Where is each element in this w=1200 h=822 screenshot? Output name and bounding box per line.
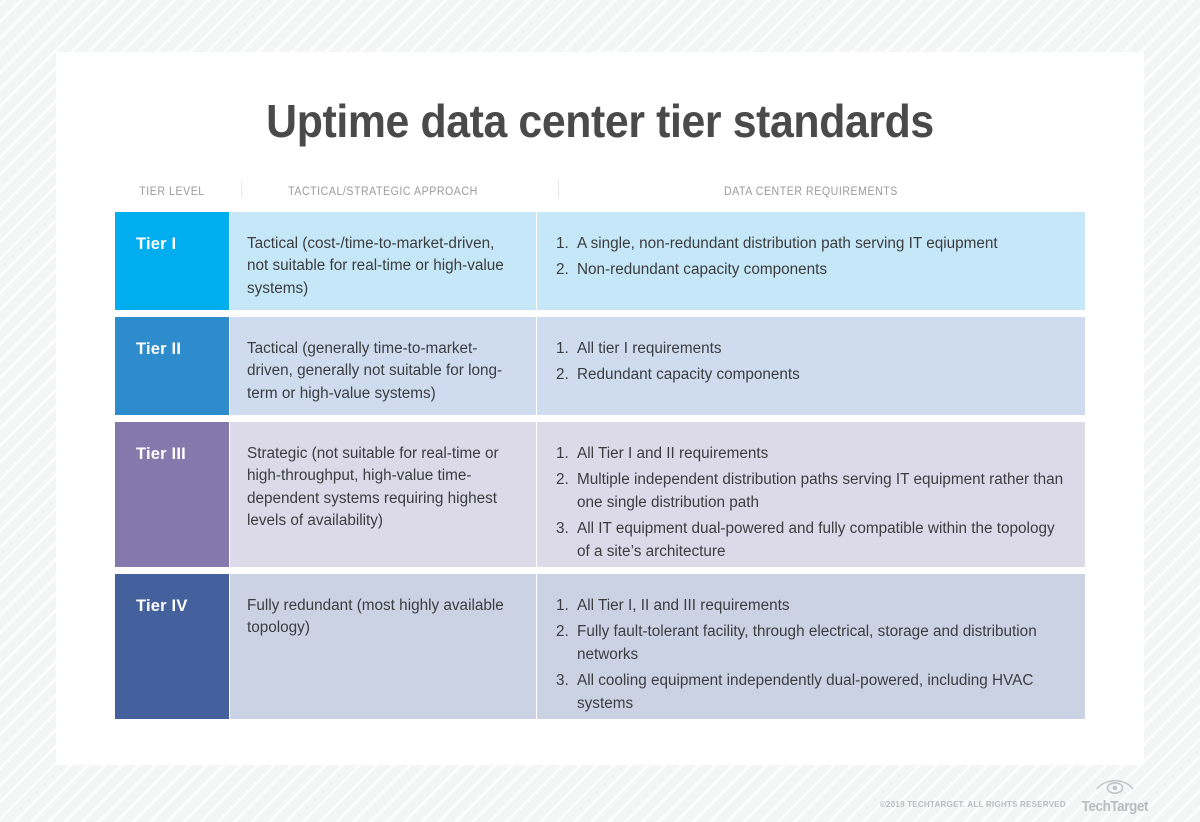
row-divider xyxy=(229,317,230,415)
table-row: Tier IV Fully redundant (most highly ava… xyxy=(115,574,1085,719)
list-item: Fully fault-tolerant facility, through e… xyxy=(556,621,1071,666)
page-title: Uptime data center tier standards xyxy=(94,94,1106,148)
tier-label-cell: Tier I xyxy=(115,212,229,310)
column-header-approach: TACTICAL/STRATEGIC APPROACH xyxy=(241,180,523,198)
list-item: Redundant capacity components xyxy=(556,364,1071,386)
row-divider xyxy=(536,574,537,719)
approach-cell: Tactical (generally time-to-market-drive… xyxy=(229,317,536,415)
approach-cell: Tactical (cost-/time-to-market-driven, n… xyxy=(229,212,536,310)
requirements-list: All Tier I, II and III requirements Full… xyxy=(556,595,1071,715)
table-row: Tier II Tactical (generally time-to-mark… xyxy=(115,317,1085,415)
list-item: A single, non-redundant distribution pat… xyxy=(556,233,1071,255)
tier-label-cell: Tier IV xyxy=(115,574,229,719)
list-item: All tier I requirements xyxy=(556,338,1071,360)
approach-cell: Strategic (not suitable for real-time or… xyxy=(229,422,536,567)
row-divider xyxy=(229,574,230,719)
table-row: Tier III Strategic (not suitable for rea… xyxy=(115,422,1085,567)
column-header-requirements: DATA CENTER REQUIREMENTS xyxy=(558,180,1063,198)
list-item: All Tier I, II and III requirements xyxy=(556,595,1071,617)
row-divider xyxy=(536,317,537,415)
table-body: Tier I Tactical (cost-/time-to-market-dr… xyxy=(115,212,1085,719)
table-header-row: TIER LEVEL TACTICAL/STRATEGIC APPROACH D… xyxy=(115,180,1085,212)
requirements-cell: A single, non-redundant distribution pat… xyxy=(536,212,1085,310)
tier-standards-table: TIER LEVEL TACTICAL/STRATEGIC APPROACH D… xyxy=(115,180,1085,719)
tier-label-cell: Tier III xyxy=(115,422,229,567)
row-divider xyxy=(536,212,537,310)
list-item: All IT equipment dual-powered and fully … xyxy=(556,518,1071,563)
requirements-cell: All tier I requirements Redundant capaci… xyxy=(536,317,1085,415)
list-item: Multiple independent distribution paths … xyxy=(556,469,1071,514)
requirements-cell: All Tier I and II requirements Multiple … xyxy=(536,422,1085,567)
row-divider xyxy=(229,212,230,310)
copyright-text: ©2019 TECHTARGET. ALL RIGHTS RESERVED xyxy=(880,799,1066,814)
tier-label-cell: Tier II xyxy=(115,317,229,415)
row-divider xyxy=(229,422,230,567)
list-item: All Tier I and II requirements xyxy=(556,443,1071,465)
requirements-list: All tier I requirements Redundant capaci… xyxy=(556,338,1071,387)
eye-icon xyxy=(1095,777,1135,798)
requirements-list: A single, non-redundant distribution pat… xyxy=(556,233,1071,282)
techtarget-logo: TechTarget xyxy=(1078,777,1152,814)
brand-wordmark: TechTarget xyxy=(1082,799,1148,814)
table-row: Tier I Tactical (cost-/time-to-market-dr… xyxy=(115,212,1085,310)
list-item: All cooling equipment independently dual… xyxy=(556,670,1071,715)
row-divider xyxy=(536,422,537,567)
requirements-list: All Tier I and II requirements Multiple … xyxy=(556,443,1071,563)
footer: ©2019 TECHTARGET. ALL RIGHTS RESERVED Te… xyxy=(875,777,1152,814)
infographic-card: Uptime data center tier standards TIER L… xyxy=(56,52,1144,765)
list-item: Non-redundant capacity components xyxy=(556,259,1071,281)
column-header-tier-level: TIER LEVEL xyxy=(120,180,225,198)
requirements-cell: All Tier I, II and III requirements Full… xyxy=(536,574,1085,719)
approach-cell: Fully redundant (most highly available t… xyxy=(229,574,536,719)
